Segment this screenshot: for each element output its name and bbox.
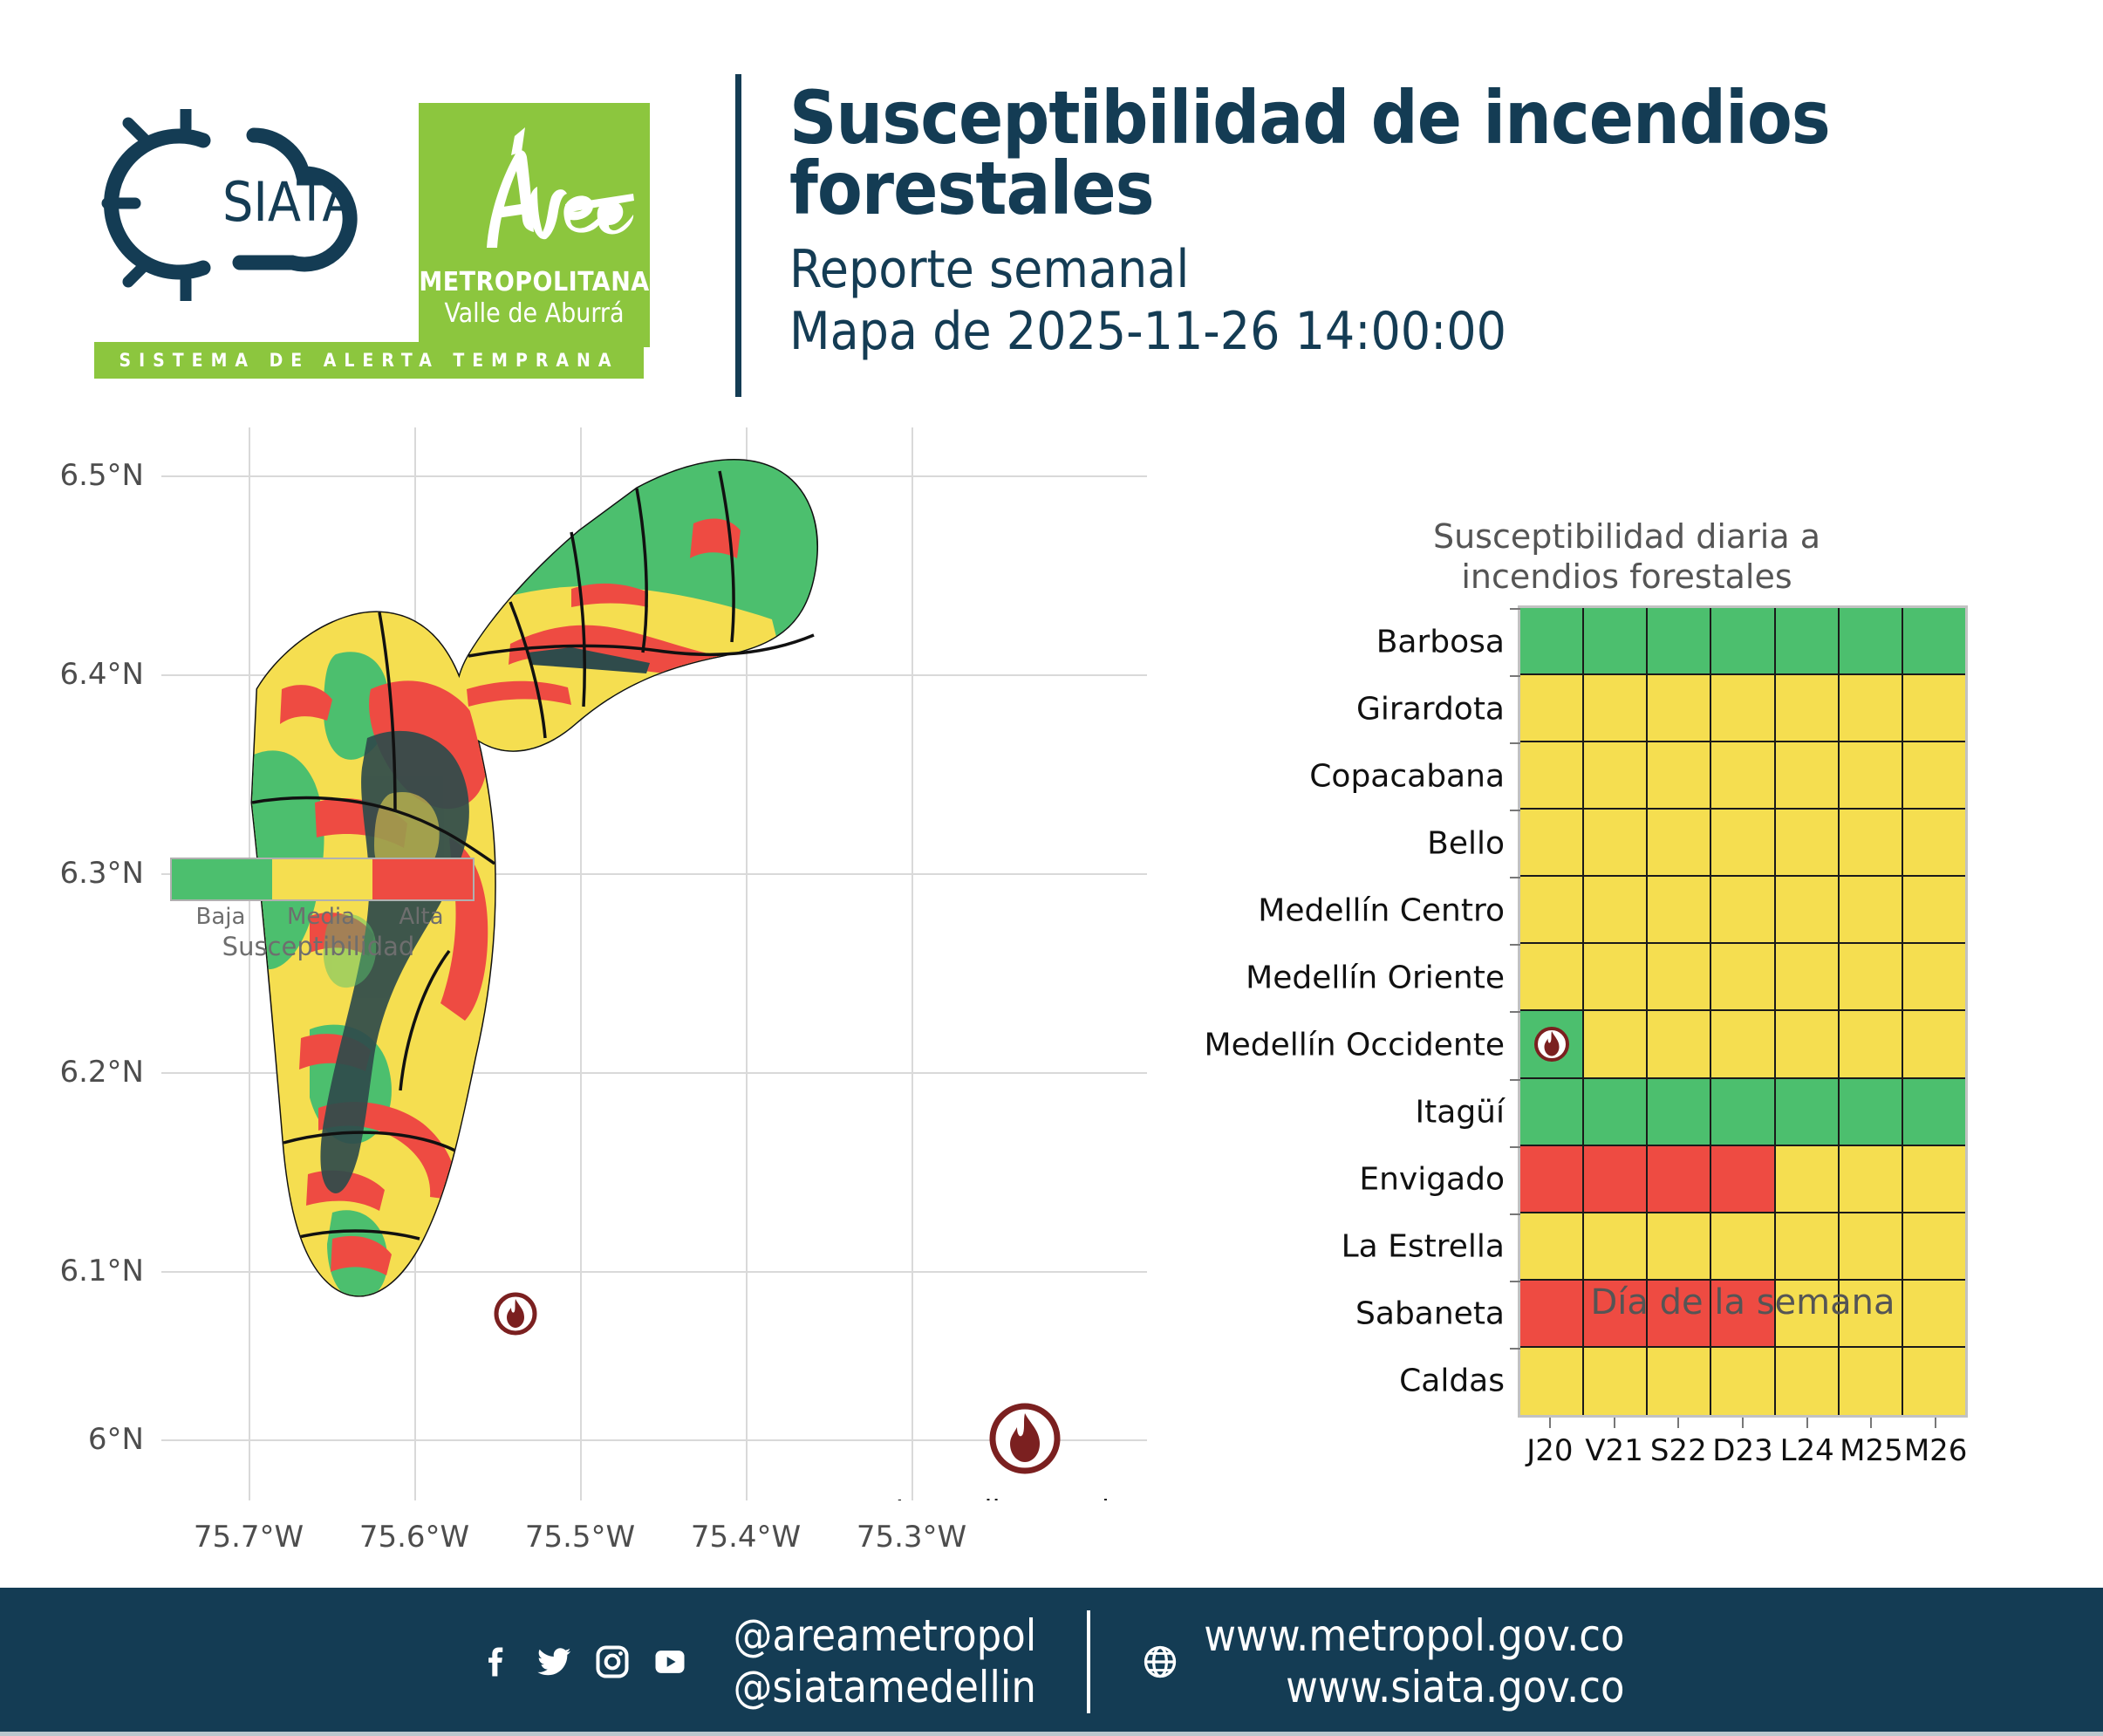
heatmap-cell[interactable] — [1776, 608, 1840, 675]
legend-swatch-alta — [372, 859, 473, 899]
heatmap-cell[interactable] — [1776, 1213, 1840, 1281]
map-panel: Incendios y columnas de humo reportadas … — [0, 410, 1186, 1588]
heatmap-cell[interactable] — [1711, 944, 1775, 1011]
page-title: Susceptibilidad de incendios forestales — [789, 83, 2080, 225]
heatmap-col-label: M26 — [1904, 1433, 1968, 1468]
heatmap-row: Itagüí — [1520, 1079, 1965, 1146]
heatmap-col-tick — [1806, 1418, 1808, 1428]
heatmap-cell[interactable] — [1648, 675, 1711, 742]
susceptibility-map — [161, 427, 1147, 1500]
heatmap-cell[interactable] — [1711, 1146, 1775, 1213]
map-xtick: 75.5°W — [525, 1520, 635, 1555]
heatmap-row-tick — [1510, 944, 1520, 946]
map-xtick: 75.7°W — [194, 1520, 304, 1555]
heatmap-cell[interactable] — [1520, 1079, 1584, 1146]
fire-legend-icon — [987, 1400, 1063, 1477]
heatmap-cell[interactable] — [1584, 877, 1648, 944]
legend-label-baja: Baja — [196, 904, 246, 930]
heatmap-cell[interactable] — [1648, 608, 1711, 675]
siata-tagline: SISTEMA DE ALERTA TEMPRANA — [119, 350, 619, 371]
heatmap-col-label: D23 — [1712, 1433, 1772, 1468]
heatmap-cell[interactable] — [1711, 877, 1775, 944]
heatmap-cell[interactable] — [1584, 1079, 1648, 1146]
heatmap-cell[interactable] — [1584, 1011, 1648, 1078]
heatmap-row-tick — [1510, 1011, 1520, 1013]
website-urls: www.metropol.gov.co www.siata.gov.co — [1204, 1610, 1624, 1713]
heatmap-cell[interactable] — [1648, 1146, 1711, 1213]
heatmap-cell[interactable] — [1520, 675, 1584, 742]
heatmap-cell[interactable] — [1520, 1348, 1584, 1415]
heatmap-row: Bello — [1520, 810, 1965, 877]
heatmap-row-tick — [1510, 1079, 1520, 1081]
map-timestamp: Mapa de 2025-11-26 14:00:00 — [789, 301, 2080, 363]
heatmap-cell[interactable] — [1584, 675, 1648, 742]
heatmap-row-tick — [1510, 742, 1520, 744]
heatmap-row-tick — [1510, 608, 1520, 610]
heatmap-row-label: Sabaneta — [1355, 1296, 1505, 1332]
map-ytick: 6°N — [88, 1422, 144, 1457]
heatmap-title: Susceptibilidad diaria a incendios fores… — [1433, 516, 1820, 598]
heatmap-cell[interactable] — [1840, 742, 1903, 810]
heatmap-row-label: Barbosa — [1376, 624, 1505, 660]
heatmap-cell[interactable] — [1903, 1146, 1965, 1213]
heatmap-title-line1: Susceptibilidad diaria a — [1433, 516, 1820, 557]
youtube-icon[interactable] — [651, 1643, 689, 1681]
heatmap-title-line2: incendios forestales — [1433, 557, 1820, 597]
heatmap-cell[interactable] — [1903, 1079, 1965, 1146]
heatmap-col-label: J20 — [1526, 1433, 1573, 1468]
siata-logo: SIATA — [83, 109, 406, 301]
heatmap-cell[interactable] — [1648, 1011, 1711, 1078]
heatmap-cell[interactable] — [1520, 742, 1584, 810]
heatmap-cell[interactable] — [1520, 1213, 1584, 1281]
heatmap-cell[interactable] — [1648, 1213, 1711, 1281]
heatmap-row: Envigado — [1520, 1146, 1965, 1213]
heatmap-row-label: Copacabana — [1309, 758, 1505, 794]
heatmap-row: Girardota — [1520, 675, 1965, 742]
heatmap-cell[interactable] — [1840, 1213, 1903, 1281]
header: SIATA SISTEMA DE ALERTA TEMPRANA METROPO… — [0, 0, 2103, 410]
heatmap-cell[interactable] — [1648, 810, 1711, 877]
heatmap-cell[interactable] — [1711, 1011, 1775, 1078]
heatmap-cell[interactable] — [1584, 1348, 1648, 1415]
heatmap-cell[interactable] — [1903, 877, 1965, 944]
heatmap-col-tick — [1677, 1418, 1679, 1428]
heatmap-cell[interactable] — [1520, 877, 1584, 944]
heatmap-col-label: V21 — [1585, 1433, 1643, 1468]
heatmap-row-tick — [1510, 1146, 1520, 1148]
heatmap-row-tick — [1510, 675, 1520, 677]
globe-icon — [1141, 1643, 1179, 1681]
heatmap-cell[interactable] — [1776, 1348, 1840, 1415]
footer: @areametropol @siatamedellin www.metropo… — [0, 1588, 2103, 1736]
twitter-icon[interactable] — [536, 1643, 574, 1681]
legend-swatch-baja — [172, 859, 272, 899]
heatmap-cell[interactable] — [1903, 608, 1965, 675]
heatmap-cell[interactable] — [1520, 1146, 1584, 1213]
area-script-icon — [434, 117, 635, 261]
heatmap-cell[interactable] — [1776, 1146, 1840, 1213]
heatmap-row: Caldas — [1520, 1348, 1965, 1415]
map-ytick: 6.4°N — [59, 657, 144, 692]
heatmap-row-tick — [1510, 810, 1520, 811]
heatmap-cell[interactable] — [1648, 1348, 1711, 1415]
heatmap-row-label: Medellín Oriente — [1246, 960, 1505, 995]
heatmap-row-tick — [1510, 877, 1520, 878]
heatmap-panel: Susceptibilidad diaria a incendios fores… — [1186, 410, 2103, 1588]
heatmap-row-label: Bello — [1427, 825, 1505, 861]
fire-marker-icon[interactable] — [493, 1291, 538, 1336]
heatmap-col-tick — [1549, 1418, 1551, 1428]
heatmap-cell[interactable] — [1584, 742, 1648, 810]
heatmap-col-label: L24 — [1780, 1433, 1834, 1468]
heatmap-cell[interactable] — [1840, 810, 1903, 877]
map-annotation: Incendios y columnas de humo reportadas … — [866, 1492, 1147, 1500]
heatmap-cell[interactable] — [1584, 810, 1648, 877]
legend-swatch-media — [272, 859, 372, 899]
legend-label-media: Media — [287, 904, 355, 930]
map-ytick: 6.5°N — [59, 458, 144, 493]
heatmap-cell[interactable] — [1711, 608, 1775, 675]
url-siata[interactable]: www.siata.gov.co — [1204, 1662, 1624, 1713]
map-ytick: 6.3°N — [59, 856, 144, 891]
heatmap-row-label: La Estrella — [1342, 1229, 1505, 1265]
heatmap-cell[interactable] — [1648, 944, 1711, 1011]
heatmap-cell[interactable] — [1903, 1011, 1965, 1078]
instagram-icon[interactable] — [593, 1643, 632, 1681]
heatmap-row-label: Medellín Occidente — [1205, 1028, 1505, 1063]
map-xtick: 75.4°W — [691, 1520, 801, 1555]
footer-divider — [1087, 1610, 1090, 1713]
header-text-block: Susceptibilidad de incendios forestales … — [789, 83, 2080, 363]
heatmap-cell[interactable] — [1840, 1079, 1903, 1146]
area-line2: Valle de Aburrá — [419, 298, 650, 329]
heatmap-row: Medellín Oriente — [1520, 944, 1965, 1011]
heatmap-cell[interactable] — [1711, 742, 1775, 810]
heatmap-cell[interactable] — [1840, 608, 1903, 675]
heatmap-row: Medellín Centro — [1520, 877, 1965, 944]
handle-siatamedellin[interactable]: @siatamedellin — [733, 1662, 1036, 1713]
heatmap-col-tick — [1935, 1418, 1936, 1428]
heatmap-cell[interactable] — [1711, 810, 1775, 877]
map-xtick: 75.6°W — [359, 1520, 469, 1555]
heatmap-row: Medellín Occidente — [1520, 1011, 1965, 1078]
heatmap-cell[interactable] — [1520, 944, 1584, 1011]
heatmap-xaxis-label: Día de la semana — [1591, 1282, 1895, 1323]
heatmap-col-label: M25 — [1840, 1433, 1903, 1468]
heatmap-col-label: S22 — [1650, 1433, 1707, 1468]
web-group: www.metropol.gov.co www.siata.gov.co — [1141, 1610, 1624, 1713]
fire-marker-icon[interactable] — [1533, 1025, 1571, 1063]
heatmap-row: La Estrella — [1520, 1213, 1965, 1281]
heatmap-cell[interactable] — [1840, 675, 1903, 742]
heatmap-cell[interactable] — [1711, 675, 1775, 742]
heatmap-row: Copacabana — [1520, 742, 1965, 810]
heatmap-cell[interactable] — [1711, 1348, 1775, 1415]
heatmap-cell[interactable] — [1840, 1146, 1903, 1213]
map-ytick: 6.1°N — [59, 1254, 144, 1288]
heatmap-cell[interactable] — [1520, 608, 1584, 675]
heatmap-cell[interactable] — [1648, 877, 1711, 944]
heatmap-row-tick — [1510, 1348, 1520, 1350]
heatmap-row-label: Envigado — [1359, 1162, 1505, 1198]
heatmap-col-tick — [1742, 1418, 1744, 1428]
heatmap-cell[interactable] — [1584, 944, 1648, 1011]
facebook-icon[interactable] — [478, 1643, 516, 1681]
heatmap-cell[interactable] — [1903, 1281, 1965, 1348]
heatmap-col-tick — [1614, 1418, 1615, 1428]
heatmap-cell[interactable] — [1840, 1348, 1903, 1415]
heatmap-cell[interactable] — [1903, 742, 1965, 810]
heatmap-cell[interactable] — [1711, 1213, 1775, 1281]
heatmap-cell[interactable] — [1711, 1079, 1775, 1146]
heatmap-cell[interactable] — [1840, 877, 1903, 944]
heatmap-row-tick — [1510, 1281, 1520, 1282]
heatmap-cell[interactable] — [1903, 1213, 1965, 1281]
heatmap-cell[interactable] — [1584, 1213, 1648, 1281]
handle-areametropol[interactable]: @areametropol — [733, 1610, 1036, 1662]
heatmap-cell[interactable] — [1776, 944, 1840, 1011]
heatmap-cell[interactable] — [1584, 608, 1648, 675]
heatmap-cell[interactable] — [1776, 675, 1840, 742]
header-divider — [735, 74, 741, 397]
heatmap-row-label: Itagüí — [1416, 1095, 1505, 1131]
heatmap-cell[interactable] — [1776, 742, 1840, 810]
heatmap-cell[interactable] — [1903, 810, 1965, 877]
heatmap-row-tick — [1510, 1213, 1520, 1215]
heatmap-cell[interactable] — [1776, 1011, 1840, 1078]
heatmap-cell[interactable] — [1903, 944, 1965, 1011]
siata-tagline-banner: SISTEMA DE ALERTA TEMPRANA — [94, 342, 644, 379]
heatmap-cell[interactable] — [1776, 877, 1840, 944]
heatmap-cell[interactable] — [1840, 944, 1903, 1011]
url-metropol[interactable]: www.metropol.gov.co — [1204, 1610, 1624, 1662]
heatmap-row-label: Caldas — [1399, 1364, 1505, 1399]
heatmap-cell[interactable] — [1903, 675, 1965, 742]
susceptibility-legend — [170, 858, 475, 901]
heatmap-cell[interactable] — [1903, 1348, 1965, 1415]
map-axes: Incendios y columnas de humo reportadas … — [161, 427, 1147, 1500]
heatmap-row-label: Girardota — [1356, 691, 1505, 727]
annotation-line-1: Incendios y columnas — [866, 1492, 1147, 1500]
svg-text:SIATA: SIATA — [222, 170, 356, 234]
heatmap-cell[interactable] — [1776, 810, 1840, 877]
map-ytick: 6.2°N — [59, 1055, 144, 1090]
area-line1: METROPOLITANA — [419, 267, 650, 297]
heatmap-cell[interactable] — [1776, 1079, 1840, 1146]
legend-title: Susceptibilidad — [222, 932, 415, 961]
social-icons-group: @areametropol @siatamedellin — [478, 1610, 1036, 1713]
legend-label-alta: Alta — [399, 904, 443, 930]
heatmap-cell[interactable] — [1584, 1146, 1648, 1213]
heatmap-cell[interactable] — [1520, 1011, 1584, 1078]
heatmap-cell[interactable] — [1520, 810, 1584, 877]
map-xtick: 75.3°W — [857, 1520, 966, 1555]
heatmap-cell[interactable] — [1520, 1281, 1584, 1348]
heatmap-cell[interactable] — [1840, 1011, 1903, 1078]
area-metropolitana-logo: METROPOLITANA Valle de Aburrá — [419, 103, 650, 347]
report-subtitle: Reporte semanal — [789, 239, 2080, 301]
heatmap-row-label: Medellín Centro — [1258, 892, 1505, 928]
heatmap-cell[interactable] — [1648, 742, 1711, 810]
footer-baseline — [0, 1732, 2103, 1736]
social-handles: @areametropol @siatamedellin — [733, 1610, 1036, 1713]
heatmap-cell[interactable] — [1648, 1079, 1711, 1146]
heatmap-row: Barbosa — [1520, 608, 1965, 675]
heatmap-col-tick — [1870, 1418, 1872, 1428]
